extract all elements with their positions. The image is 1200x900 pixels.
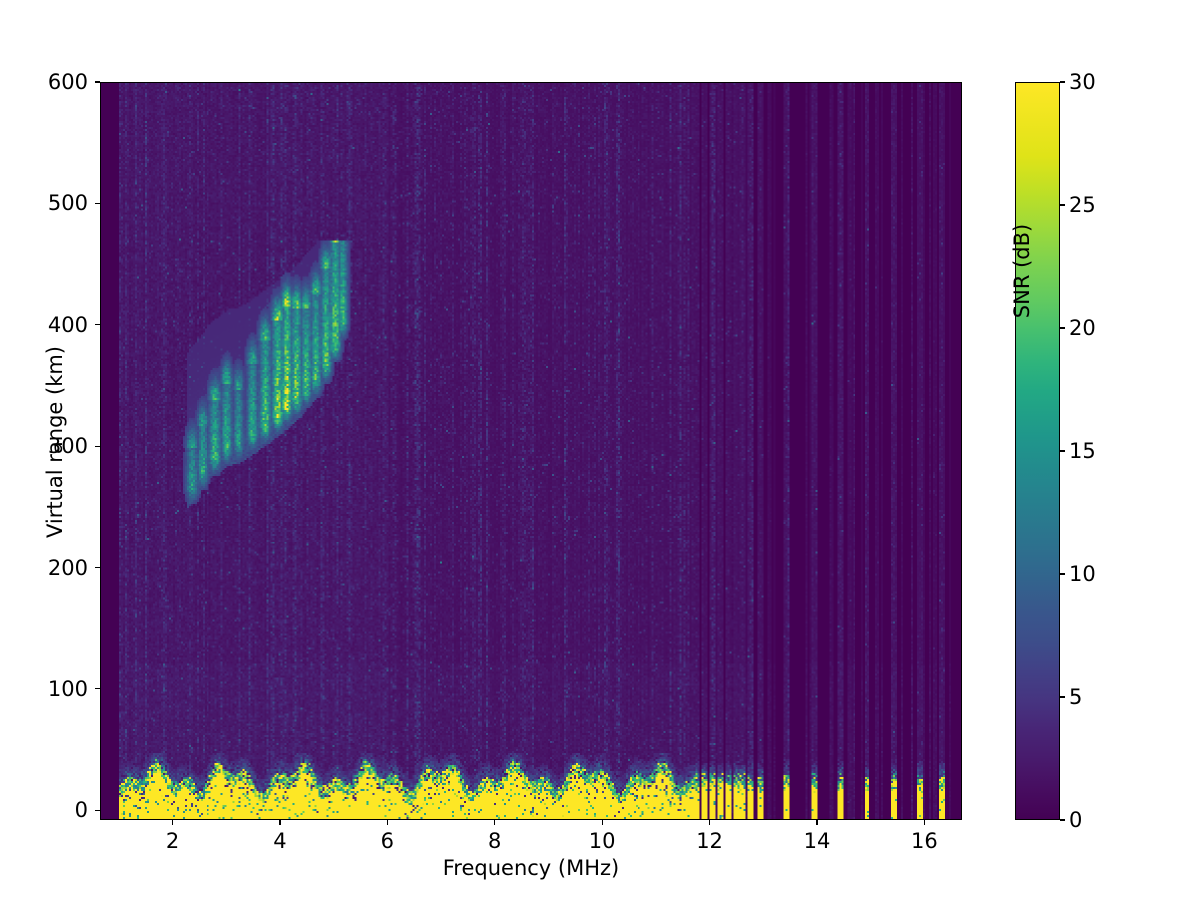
x-tick-label: 8 [460, 829, 530, 853]
x-tick-mark [602, 820, 603, 825]
colorbar-tick-mark [1060, 327, 1065, 328]
colorbar-tick-mark [1060, 81, 1065, 82]
y-tick-label: 0 [0, 798, 88, 822]
y-tick-mark [95, 203, 100, 204]
colorbar-tick-label: 0 [1069, 808, 1082, 832]
colorbar-tick-label: 5 [1069, 685, 1082, 709]
x-tick-label: 12 [675, 829, 745, 853]
y-tick-mark [95, 81, 100, 82]
ionogram-figure: IRF Kiruna Ionosonde KI167 2026-03-12 19… [0, 0, 1200, 900]
x-tick-label: 10 [567, 829, 637, 853]
x-tick-label: 16 [889, 829, 959, 853]
x-tick-mark [172, 820, 173, 825]
colorbar-tick-mark [1060, 696, 1065, 697]
colorbar-tick-label: 15 [1069, 439, 1096, 463]
colorbar-tick-label: 10 [1069, 562, 1096, 586]
x-tick-label: 2 [138, 829, 208, 853]
y-axis-label: Virtual range (km) [43, 92, 67, 792]
colorbar-tick-mark [1060, 204, 1065, 205]
colorbar-tick-label: 20 [1069, 316, 1096, 340]
x-axis-label: Frequency (MHz) [100, 856, 962, 880]
y-tick-mark [95, 567, 100, 568]
x-tick-mark [494, 820, 495, 825]
y-tick-label: 600 [0, 70, 88, 94]
y-tick-mark [95, 688, 100, 689]
y-tick-mark [95, 810, 100, 811]
y-tick-mark [95, 324, 100, 325]
colorbar-tick-mark [1060, 450, 1065, 451]
colorbar-tick-mark [1060, 819, 1065, 820]
x-tick-mark [387, 820, 388, 825]
x-tick-label: 14 [782, 829, 852, 853]
colorbar-label: SNR (dB) [1010, 91, 1034, 451]
x-tick-mark [816, 820, 817, 825]
colorbar-tick-label: 30 [1069, 70, 1096, 94]
colorbar-tick-mark [1060, 573, 1065, 574]
colorbar-tick-label: 25 [1069, 193, 1096, 217]
x-tick-label: 4 [245, 829, 315, 853]
ionogram-plot-area [100, 82, 962, 820]
y-tick-mark [95, 446, 100, 447]
ionogram-heatmap [101, 83, 961, 819]
x-tick-mark [924, 820, 925, 825]
x-tick-label: 6 [352, 829, 422, 853]
x-tick-mark [279, 820, 280, 825]
x-tick-mark [709, 820, 710, 825]
